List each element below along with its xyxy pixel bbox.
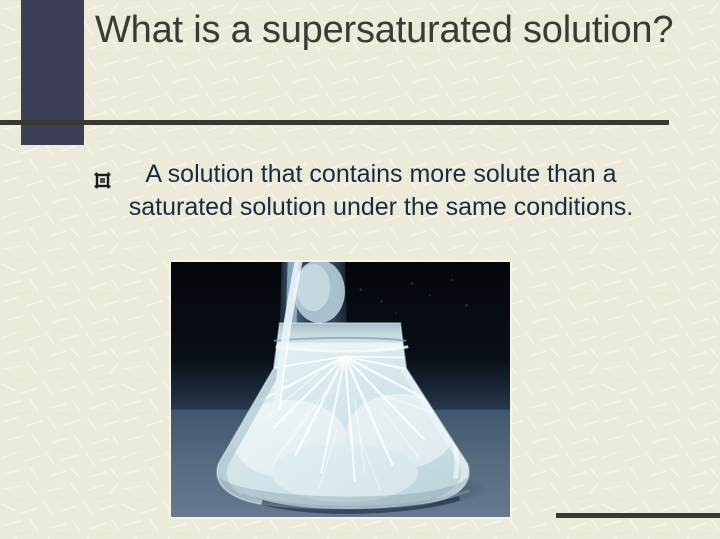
bullet-item: A solution that contains more solute tha… bbox=[92, 158, 640, 224]
slide-title: What is a supersaturated solution? bbox=[95, 8, 695, 53]
slide: What is a supersaturated solution? A sol bbox=[0, 0, 720, 539]
bullet-item-text: A solution that contains more solute tha… bbox=[122, 158, 640, 224]
flask-photo bbox=[171, 262, 510, 517]
title-divider-rule bbox=[0, 120, 669, 125]
square-notched-bullet-icon bbox=[94, 165, 111, 182]
slide-body: A solution that contains more solute tha… bbox=[92, 158, 640, 224]
flask-photo-frame bbox=[169, 260, 512, 519]
footer-divider-rule bbox=[556, 513, 720, 518]
